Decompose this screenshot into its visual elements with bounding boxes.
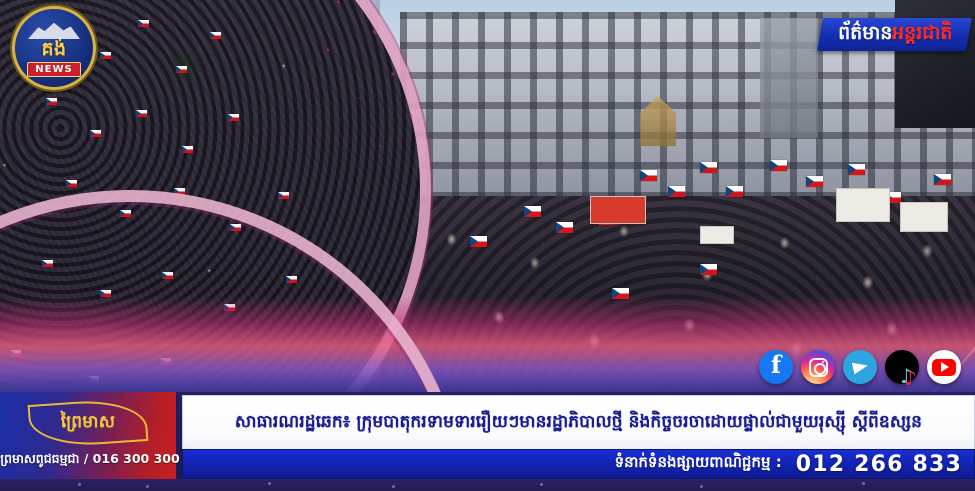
czech-flag	[88, 376, 99, 383]
contact-bar: ទំនាក់ទំនងផ្សាយពាណិជ្ជកម្ម : 012 266 833	[182, 449, 975, 479]
czech-flag	[42, 260, 53, 267]
contact-label: ទំនាក់ទំនងផ្សាយពាណិជ្ជកម្ម :	[615, 453, 782, 475]
channel-logo: គង់ NEWS	[12, 6, 96, 90]
channel-logo-name: គង់	[41, 40, 66, 59]
sparkle-dot	[146, 485, 149, 488]
social-icon-row: f	[759, 350, 961, 384]
czech-flag	[46, 98, 57, 105]
building-secondary	[760, 18, 818, 138]
czech-flag	[524, 206, 541, 217]
channel-logo-news-label: NEWS	[27, 62, 80, 77]
telegram-icon[interactable]	[843, 350, 877, 384]
czech-flag	[612, 288, 629, 299]
czech-flag	[160, 358, 171, 365]
czech-flag	[100, 290, 111, 297]
czech-flag	[640, 170, 657, 181]
sponsor-ad-box[interactable]: ព្រៃមាស ព្រៃមាសពូជធម្មជា / 016 300 300	[0, 392, 178, 479]
contact-number: 012 266 833	[796, 452, 962, 477]
protest-placard	[900, 202, 948, 232]
protest-placard	[590, 196, 646, 224]
telegram-glyph	[851, 360, 868, 375]
sparkle-dot	[540, 483, 543, 486]
broadcast-frame: គង់ NEWS ព័ត៌មានអន្តរជាតិ f ព្រៃមាស ព្រៃ…	[0, 0, 975, 491]
sparkle-dot	[268, 482, 271, 485]
czech-flag	[136, 110, 147, 117]
czech-flag	[230, 224, 241, 231]
protest-placard	[700, 226, 734, 244]
czech-flag	[162, 272, 173, 279]
czech-flag	[66, 180, 77, 187]
protest-placard	[836, 188, 890, 222]
category-badge: ព័ត៌មានអន្តរជាតិ	[818, 18, 972, 51]
czech-flag	[278, 192, 289, 199]
czech-flag	[210, 32, 221, 39]
youtube-icon[interactable]	[927, 350, 961, 384]
czech-flag	[182, 146, 193, 153]
czech-flag	[848, 164, 865, 175]
sparkle-dot	[700, 485, 703, 488]
czech-flag	[700, 264, 717, 275]
czech-flag	[726, 186, 743, 197]
czech-flag	[138, 20, 149, 27]
instagram-icon[interactable]	[801, 350, 835, 384]
czech-flag	[176, 66, 187, 73]
sponsor-logo-text: ព្រៃមាស	[61, 411, 116, 436]
sponsor-tagline: ព្រៃមាសពូជធម្មជា / 016 300 300	[0, 451, 180, 470]
czech-flag	[286, 276, 297, 283]
czech-flag	[770, 160, 787, 171]
sponsor-leaf-logo: ព្រៃមាស	[29, 401, 147, 445]
youtube-glyph	[932, 359, 956, 376]
czech-flag	[700, 162, 717, 173]
photo-area: គង់ NEWS ព័ត៌មានអន្តរជាតិ f	[0, 0, 975, 392]
czech-flag	[90, 130, 101, 137]
instagram-glyph	[809, 358, 828, 377]
czech-flag	[174, 188, 185, 195]
sparkle-dot	[392, 485, 395, 488]
czech-flag	[100, 52, 111, 59]
headline-strip: សាធារណរដ្ឋឆេក៖ ក្រុមបាតុករទាមទាររឿយៗមានរ…	[182, 395, 975, 451]
headline-text: សាធារណរដ្ឋឆេក៖ ក្រុមបាតុករទាមទាររឿយៗមានរ…	[235, 411, 922, 436]
czech-flag	[10, 350, 21, 357]
banner-footer-strip	[0, 479, 975, 491]
sparkle-dot	[78, 483, 81, 486]
czech-flag	[228, 114, 239, 121]
facebook-icon[interactable]: f	[759, 350, 793, 384]
tiktok-icon[interactable]	[885, 350, 919, 384]
bottom-banner: ព្រៃមាស ព្រៃមាសពូជធម្មជា / 016 300 300 ស…	[0, 392, 975, 491]
facebook-glyph: f	[771, 353, 781, 377]
sparkle-dot	[862, 482, 865, 485]
czech-flag	[470, 236, 487, 247]
czech-flag	[224, 304, 235, 311]
czech-flag	[934, 174, 951, 185]
category-badge-prefix: ព័ត៌មាន	[838, 23, 892, 45]
category-badge-highlight: អន្តរជាតិ	[893, 23, 953, 45]
czech-flag	[556, 222, 573, 233]
czech-flag	[668, 186, 685, 197]
czech-flag	[806, 176, 823, 187]
mountain-peaks-icon	[28, 21, 80, 39]
czech-flag	[120, 210, 131, 217]
